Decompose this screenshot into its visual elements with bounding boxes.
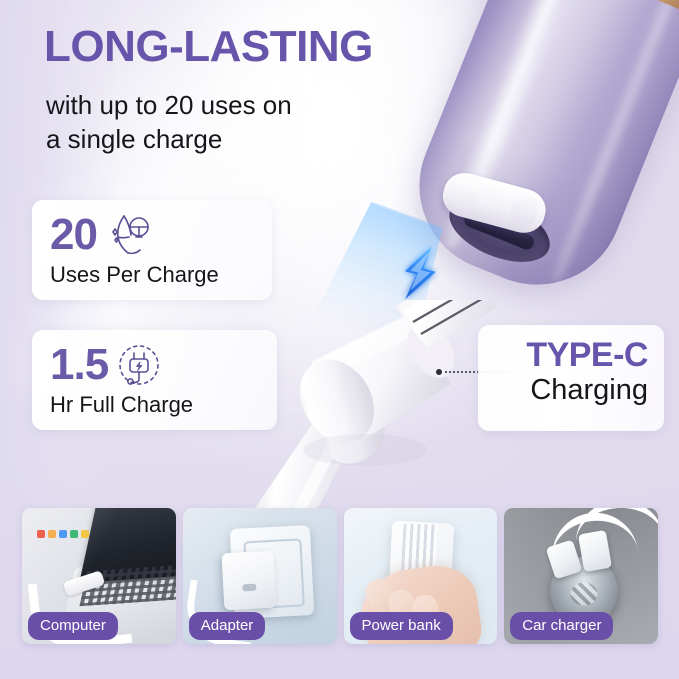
callout-leader-dot [436,369,442,375]
thumbnail-power-bank[interactable]: Power bank [344,508,498,644]
thumbnail-adapter[interactable]: Adapter [183,508,337,644]
thumbnail-label: Car charger [510,612,613,640]
car-socket-pattern [571,583,598,606]
feature-card-uses-per-charge: 20 Uses Per Charge [32,200,272,300]
page-title: LONG-LASTING [44,24,373,70]
infographic-canvas: LONG-LASTING with up to 20 uses on a sin… [0,0,679,679]
feature-card-full-charge-time: 1.5 Hr Full Charge [32,330,277,430]
leg-shaver-icon [106,213,152,257]
port-cover-tab-secondary [507,190,541,230]
callout-title: TYPE-C [494,338,648,374]
thumbnail-car-charger[interactable]: Car charger [504,508,658,644]
page-subtitle: with up to 20 uses on a single charge [46,88,292,157]
feature-label: Uses Per Charge [50,263,254,287]
thumbnail-label: Computer [28,612,118,640]
plug-charge-icon [117,343,161,387]
thumbnail-label: Adapter [189,612,266,640]
laptop-dock-icons [37,530,89,538]
feature-value: 1.5 [50,343,108,387]
port-cover-tab [446,176,483,213]
feature-card-header: 1.5 [50,340,259,390]
car-charger-cable [574,508,658,545]
feature-label: Hr Full Charge [50,393,259,417]
feature-card-header: 20 [50,210,254,260]
compatibility-thumbnail-strip: Computer Adapter Power bank [22,508,658,644]
feature-value: 20 [50,213,97,257]
thumbnail-label: Power bank [350,612,453,640]
thumbnail-computer[interactable]: Computer [22,508,176,644]
callout-card-type-c: TYPE-C Charging [478,325,664,431]
callout-subtitle: Charging [494,374,648,407]
usb-c-connector [245,300,505,530]
